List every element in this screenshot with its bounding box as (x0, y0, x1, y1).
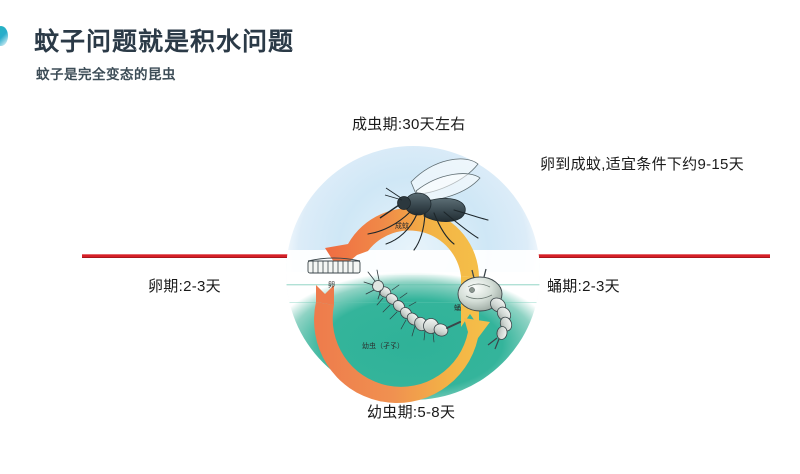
mosquito-life-cycle-diagram: 成蚊 卵 (282, 142, 544, 404)
label-pupa-stage: 蛹期:2-3天 (547, 277, 620, 297)
page-subtitle: 蚊子是完全变态的昆虫 (36, 66, 176, 84)
diagram-label-pupa: 蛹 (454, 303, 461, 312)
diagram-label-larva: 幼虫（孑孓） (362, 341, 404, 350)
label-egg-stage: 卵期:2-3天 (148, 277, 221, 297)
accent-dot-icon (0, 26, 8, 46)
label-larva-stage: 幼虫期:5-8天 (367, 403, 455, 423)
label-adult-stage: 成虫期:30天左右 (352, 115, 466, 135)
diagram-label-adult: 成蚊 (395, 221, 409, 230)
page-title: 蚊子问题就是积水问题 (34, 26, 294, 58)
slide-canvas: 蚊子问题就是积水问题 蚊子是完全变态的昆虫 成虫期:30天左右 卵到成蚊,适宜条… (0, 0, 800, 474)
label-egg-to-adult-duration: 卵到成蚊,适宜条件下约9-15天 (540, 155, 744, 175)
diagram-label-egg: 卵 (328, 280, 335, 289)
